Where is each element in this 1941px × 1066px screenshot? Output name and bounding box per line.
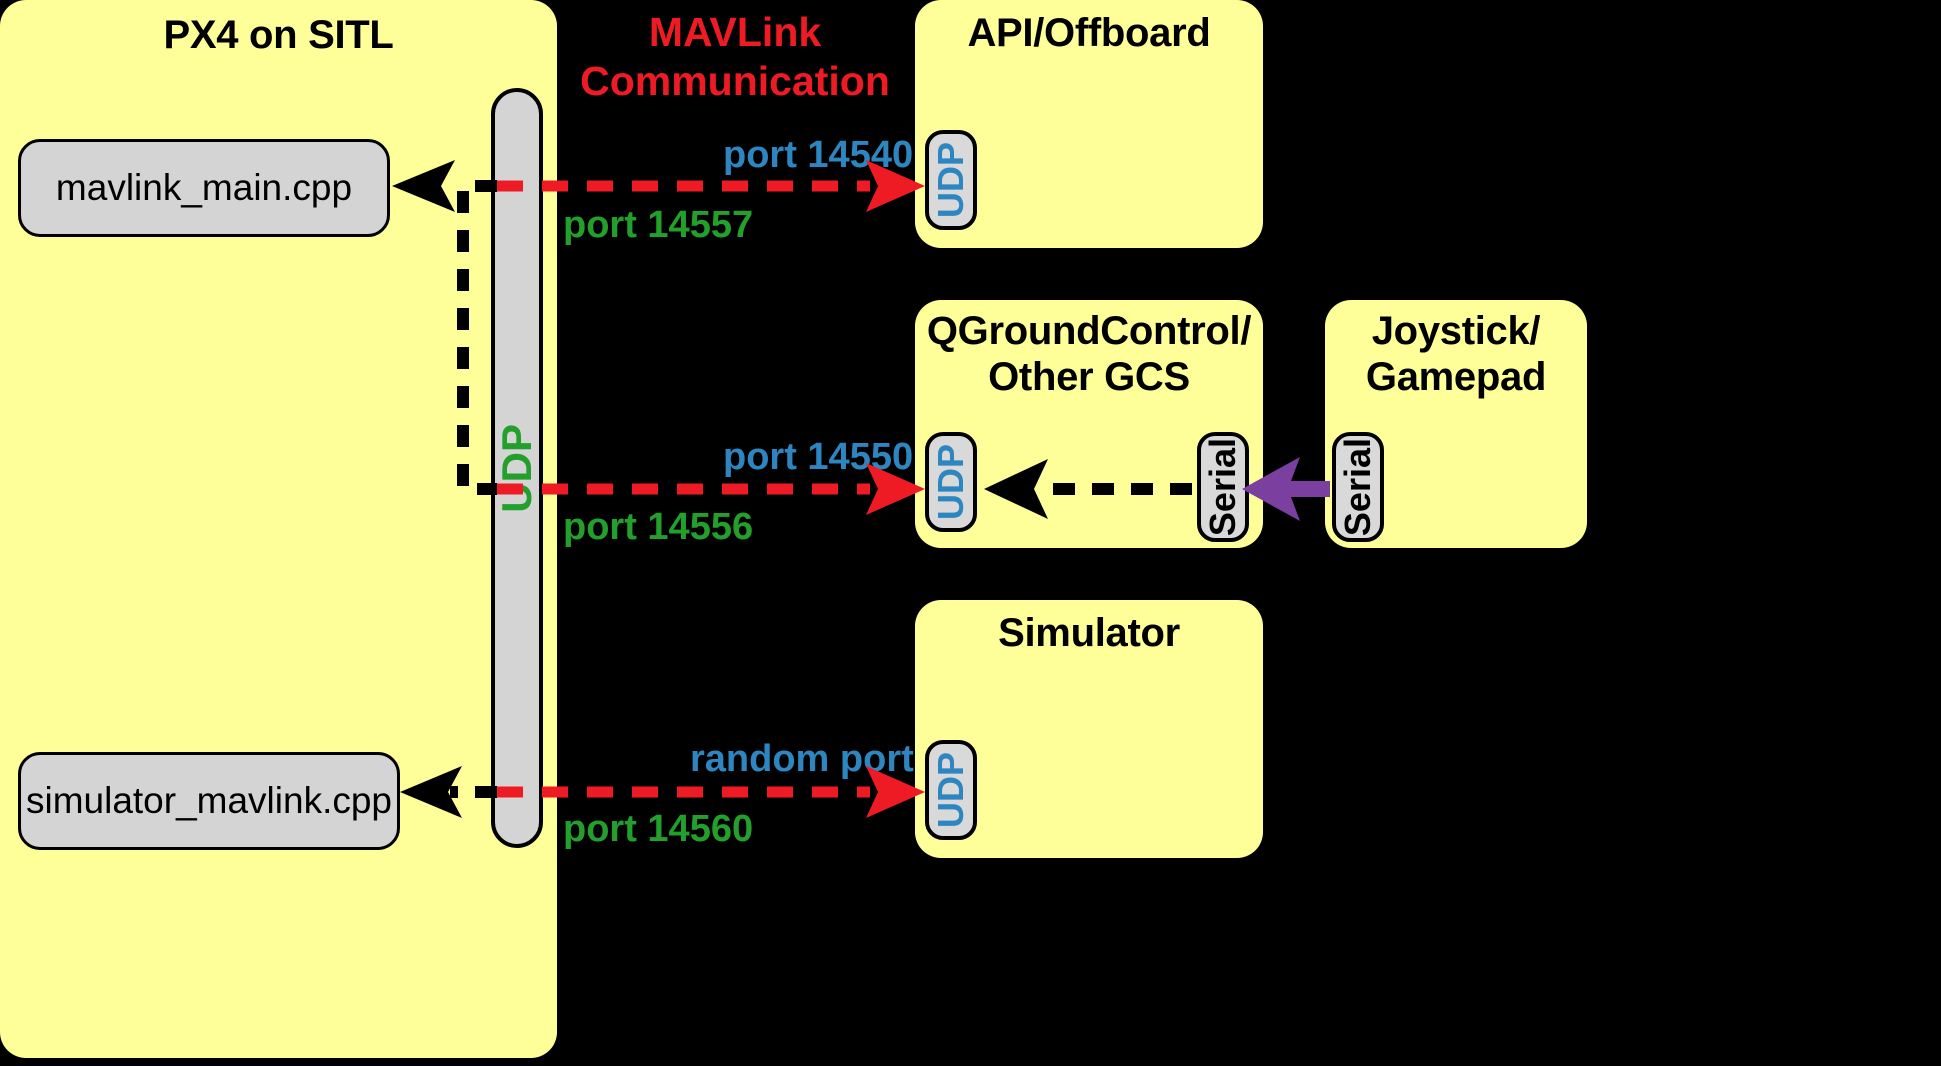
connector-simulator-udp-label: UDP [930, 752, 972, 828]
label-port-14556: port 14556 [563, 506, 753, 549]
module-simulator-mavlink-label: simulator_mavlink.cpp [26, 780, 392, 822]
box-gcs-title-line1: QGroundControl/ [915, 308, 1263, 354]
connector-api-udp-label: UDP [930, 142, 972, 218]
module-mavlink-main[interactable]: mavlink_main.cpp [18, 139, 390, 237]
connector-joystick-serial-label: Serial [1337, 438, 1379, 536]
label-port-14540: port 14540 [723, 134, 913, 177]
connector-gcs-serial-label: Serial [1202, 438, 1244, 536]
connector-simulator-udp[interactable]: UDP [925, 740, 977, 840]
label-port-14560: port 14560 [563, 808, 753, 851]
connector-px4-udp-label: UDP [493, 424, 541, 513]
mavlink-communication-label: MAVLink Communication [565, 8, 905, 106]
box-gcs-title-line2: Other GCS [915, 354, 1263, 400]
box-api-title: API/Offboard [915, 10, 1263, 56]
connector-api-udp[interactable]: UDP [925, 130, 977, 230]
module-mavlink-main-label: mavlink_main.cpp [56, 167, 352, 209]
module-simulator-mavlink[interactable]: simulator_mavlink.cpp [18, 752, 400, 850]
label-random-port: random port [690, 738, 914, 781]
connector-gcs-serial[interactable]: Serial [1197, 432, 1249, 542]
box-simulator-title: Simulator [915, 610, 1263, 656]
connector-px4-udp-strip[interactable]: UDP [491, 88, 543, 848]
mavlink-label-line2: Communication [565, 57, 905, 106]
box-joystick-title-line1: Joystick/ [1325, 308, 1587, 354]
mavlink-label-line1: MAVLink [565, 8, 905, 57]
diagram-canvas: PX4 on SITL mavlink_main.cpp simulator_m… [0, 0, 1941, 1066]
label-port-14557: port 14557 [563, 204, 753, 247]
connector-gcs-udp-label: UDP [930, 444, 972, 520]
box-px4-title: PX4 on SITL [0, 12, 557, 58]
box-joystick-title-line2: Gamepad [1325, 354, 1587, 400]
connector-joystick-serial[interactable]: Serial [1332, 432, 1384, 542]
connector-gcs-udp[interactable]: UDP [925, 432, 977, 532]
label-port-14550: port 14550 [723, 436, 913, 479]
